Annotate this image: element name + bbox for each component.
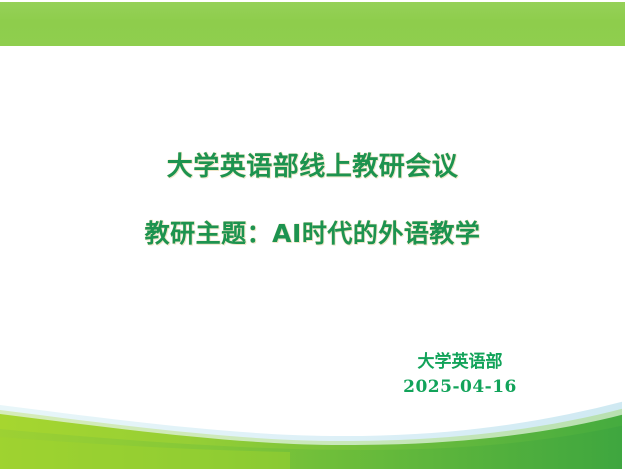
top-band-hairline (0, 0, 625, 2)
top-decorative-band (0, 1, 625, 46)
presentation-slide: 大学英语部线上教研会议 教研主题：AI时代的外语教学 大学英语部 2025-04… (0, 0, 625, 469)
organization-name: 大学英语部 (340, 350, 580, 374)
slide-subtitle: 教研主题：AI时代的外语教学 (0, 217, 625, 251)
bottom-decorative-wave (0, 389, 625, 469)
slide-title: 大学英语部线上教研会议 (0, 150, 625, 184)
